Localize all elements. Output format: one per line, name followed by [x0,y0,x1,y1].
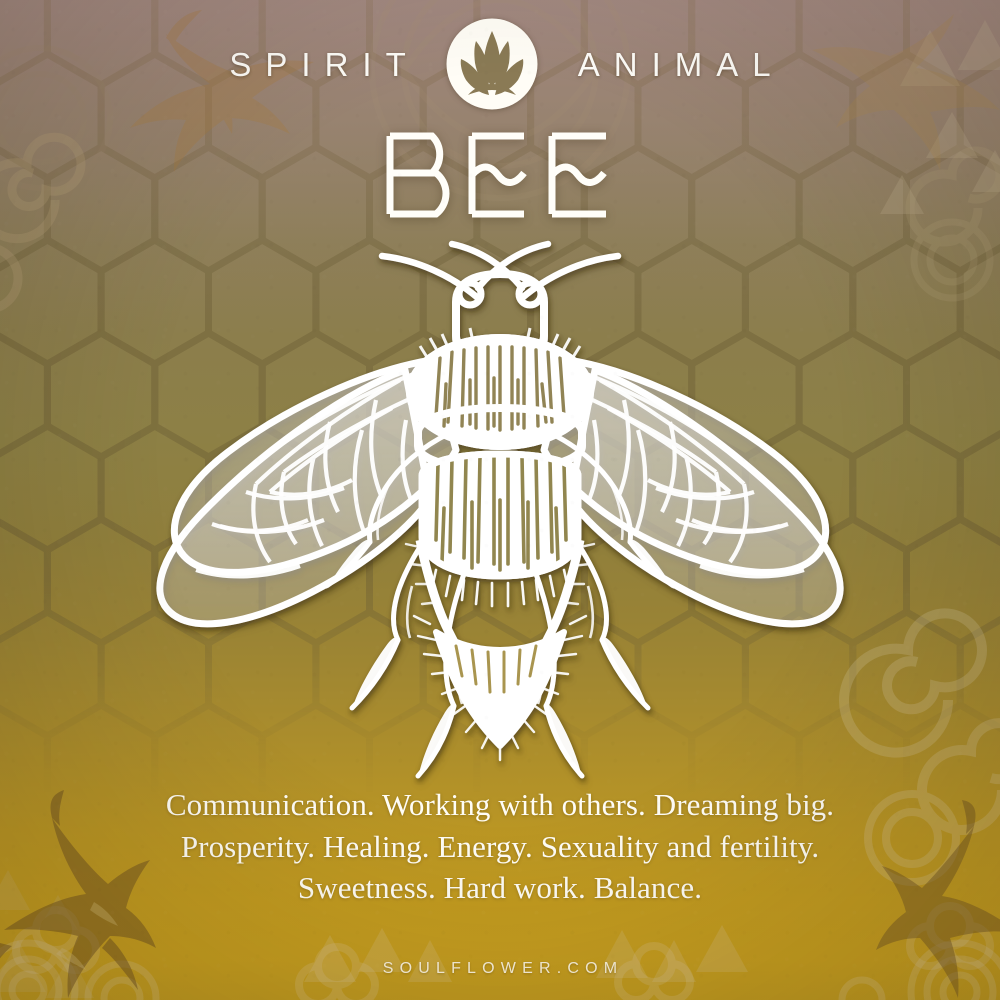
keyword-block: Communication. Working with others. Drea… [60,784,940,909]
keyword-line-2: Prosperity. Healing. Energy. Sexuality a… [60,826,940,868]
footer-website[interactable]: SOULFLOWER.COM [0,960,1000,978]
brand-word-animal: ANIMAL [564,48,785,81]
keyword-line-1: Communication. Working with others. Drea… [60,784,940,826]
spirit-animal-poster: SPIRIT ANIMAL [0,0,1000,1000]
keyword-line-3: Sweetness. Hard work. Balance. [60,867,940,909]
brand-word-spirit: SPIRIT [215,48,419,81]
brand-header: SPIRIT ANIMAL [0,18,1000,110]
page-title [0,120,1000,230]
lotus-crest-icon [446,18,538,110]
bee-illustration [100,240,900,785]
